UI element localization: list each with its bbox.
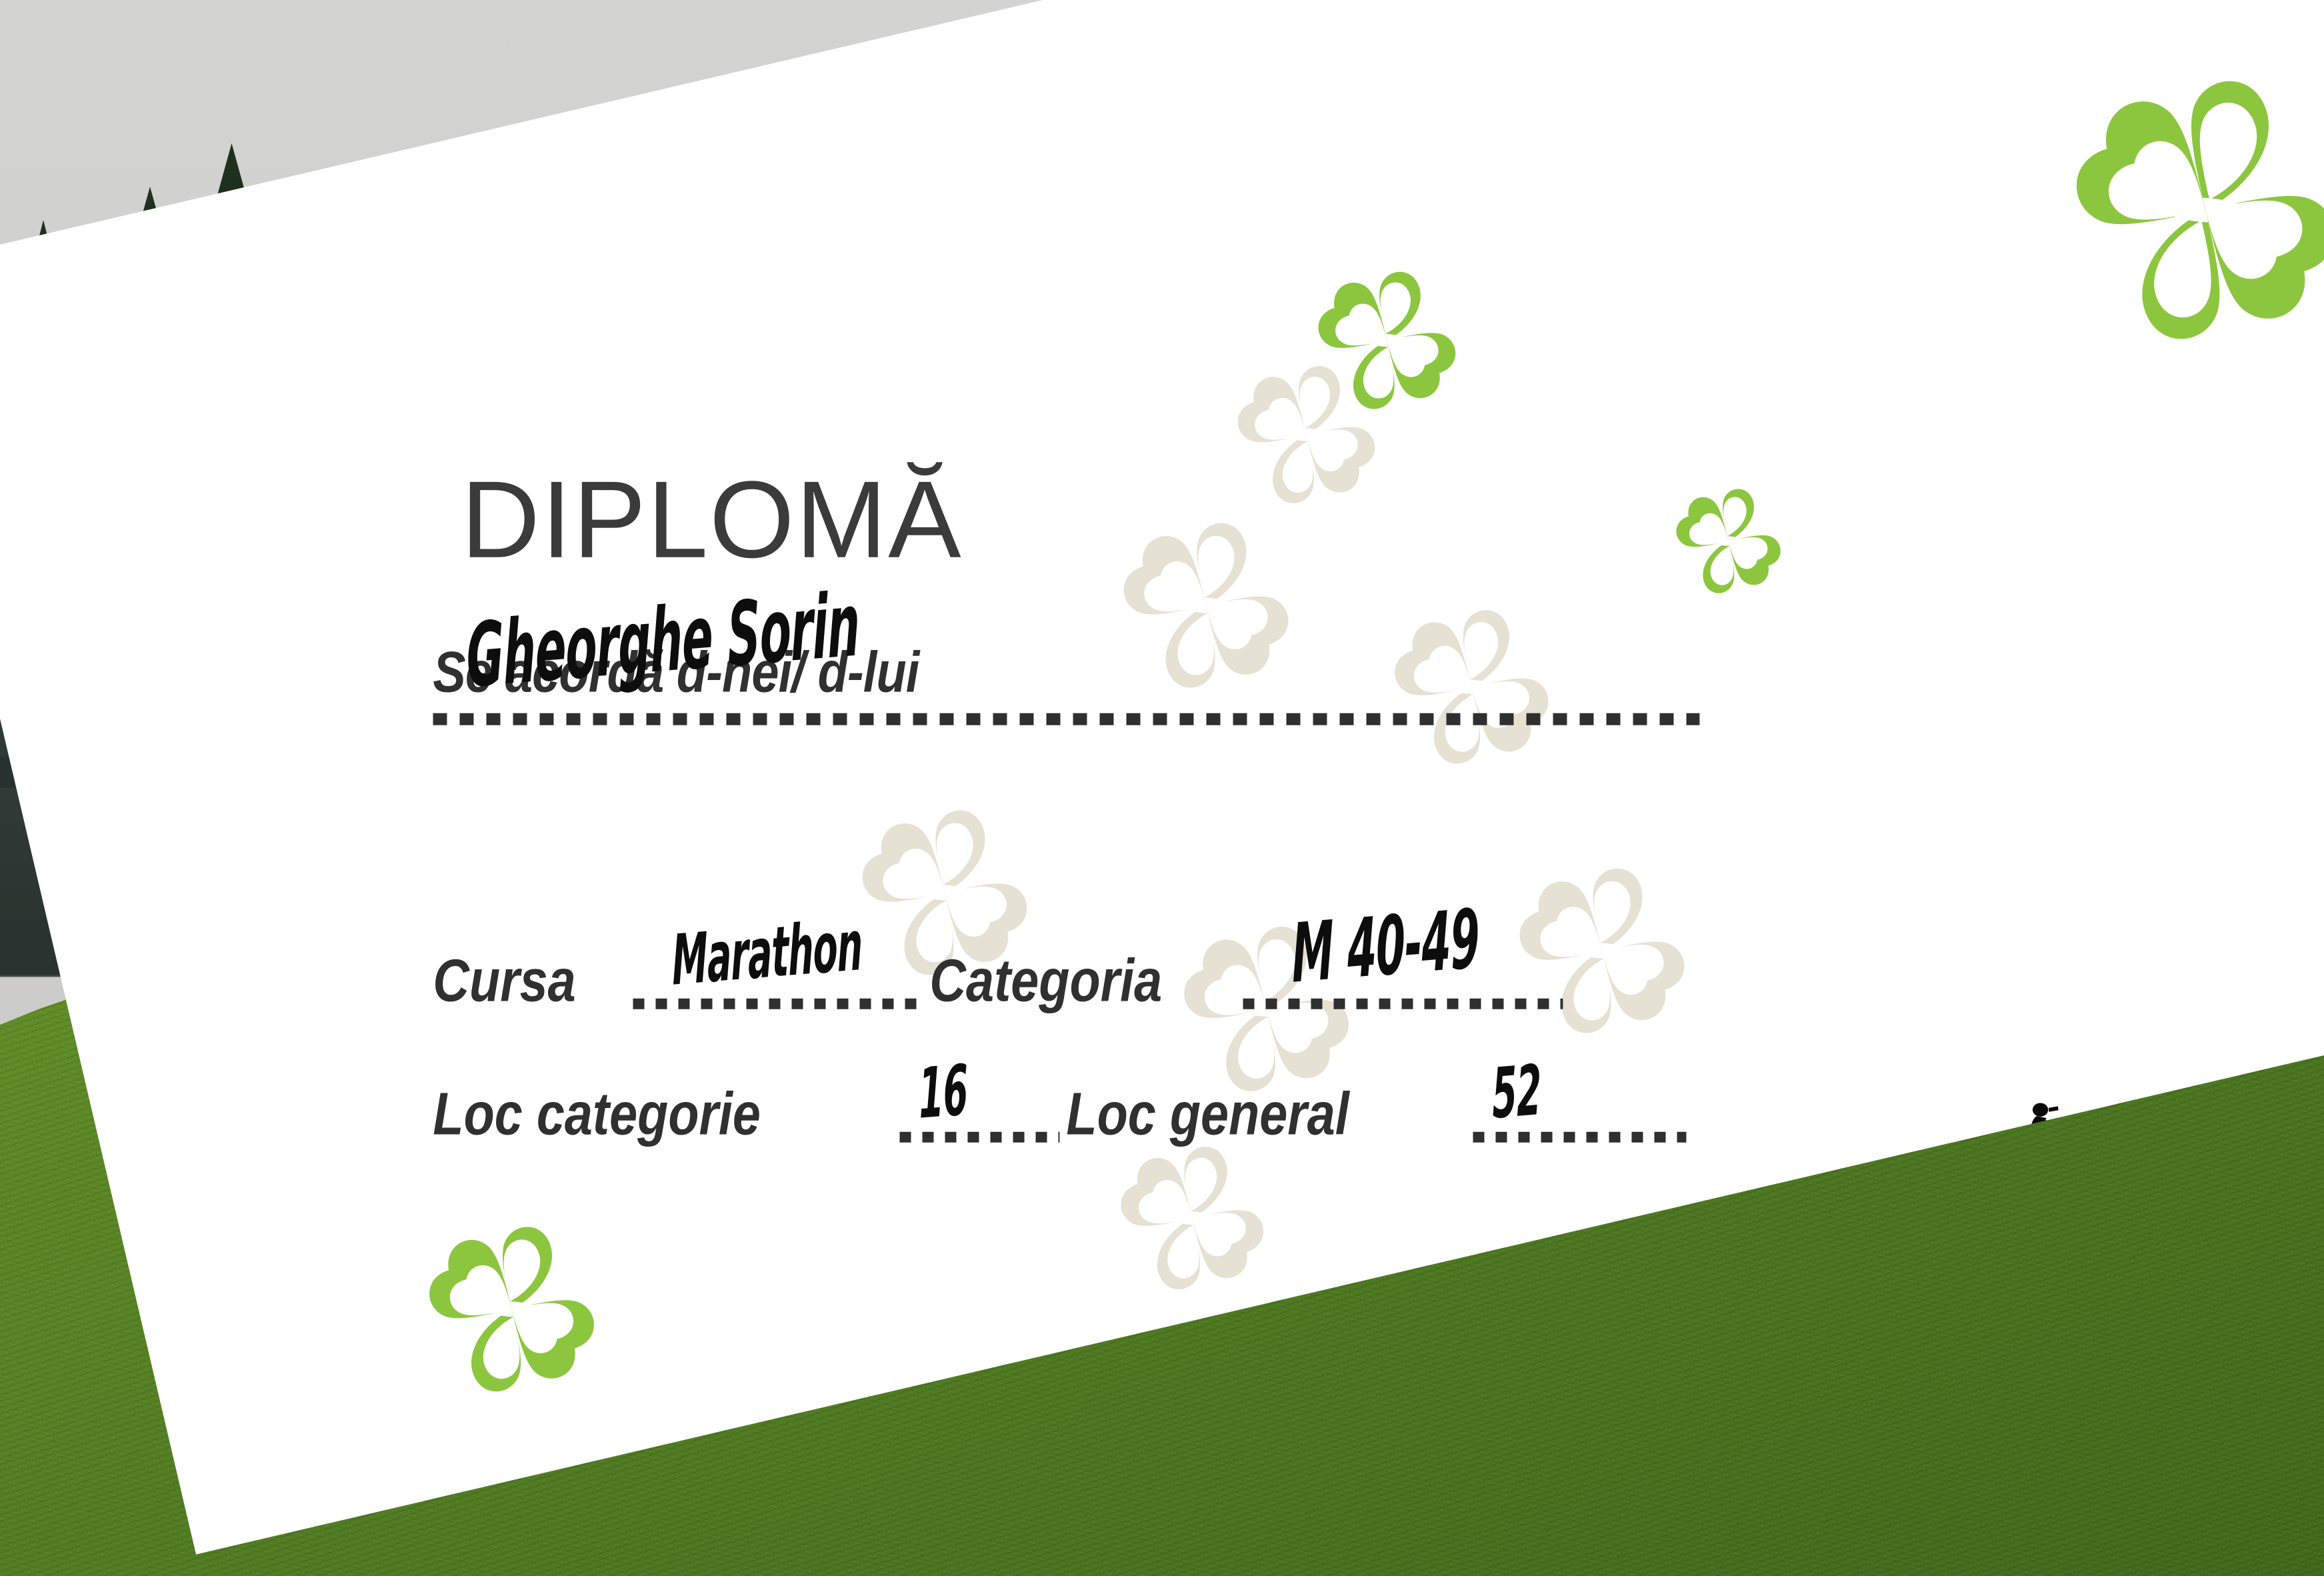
- loc-general-value: 52: [1491, 1049, 1542, 1135]
- cursa-value: Marathon: [671, 905, 863, 1001]
- placement-row: Loc categorie 16 Loc general 52: [433, 1065, 1713, 1145]
- categoria-value: M 40-49: [1291, 891, 1480, 1001]
- dotted-line: [433, 713, 1699, 725]
- categoria-label: Categoria: [929, 947, 1162, 1016]
- categoria-dotted-fill: [1243, 999, 1563, 1009]
- cursa-label: Cursa: [433, 947, 575, 1016]
- page-title: DIPLOMĂ: [461, 465, 962, 575]
- loc-categorie-label: Loc categorie: [433, 1081, 761, 1149]
- clover-icon: [2017, 22, 2324, 399]
- loc-categorie-value: 16: [918, 1049, 969, 1135]
- diploma-image: DIPLOMĂ Se acordă d-nei/ d-lui Gheorghe …: [0, 0, 2324, 1576]
- loc-general-label: Loc general: [1066, 1081, 1349, 1149]
- race-category-row: Cursa Marathon Categoria M 40-49: [433, 932, 1713, 1012]
